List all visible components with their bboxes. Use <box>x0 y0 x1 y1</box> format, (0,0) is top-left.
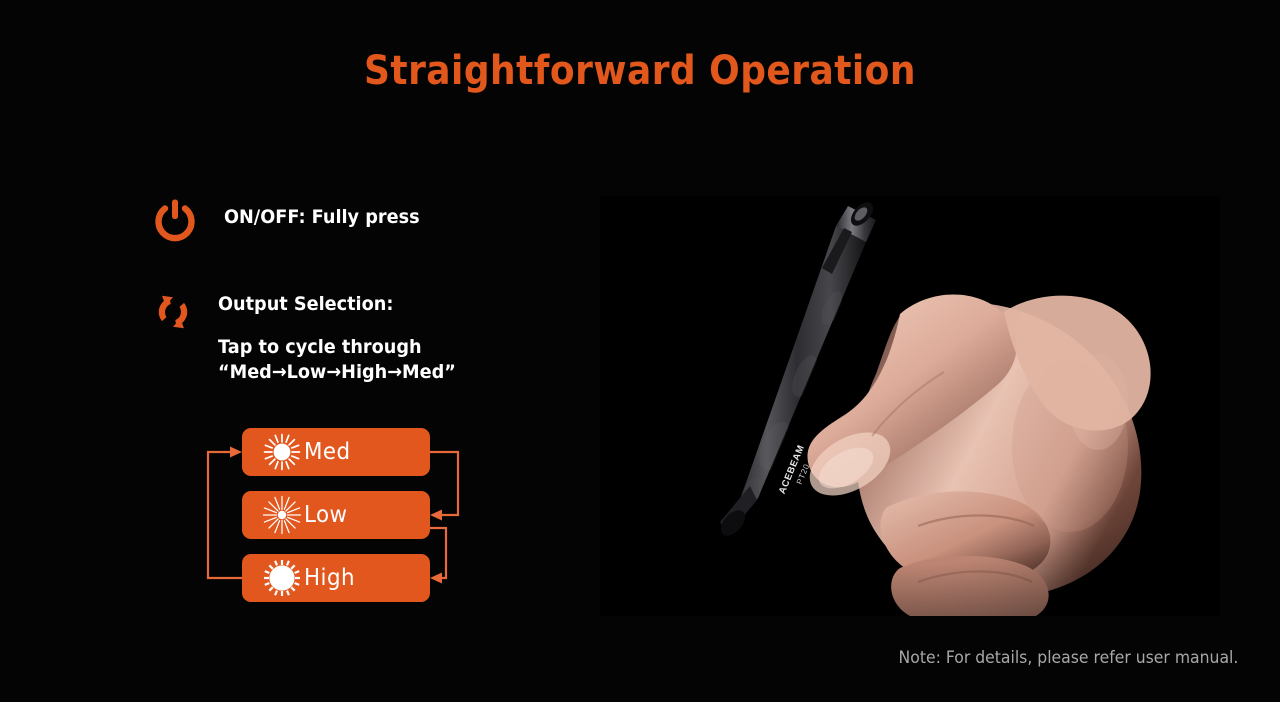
cycle-hint-line-1: Tap to cycle through <box>218 335 456 360</box>
connector-low-to-high <box>430 528 446 578</box>
mode-flow-diagram: Med <box>196 418 496 623</box>
connector-med-to-low <box>430 452 458 515</box>
instruction-row-onoff: ON/OFF: Fully press <box>152 196 434 244</box>
mode-button-med[interactable]: Med <box>242 428 430 476</box>
cycle-arrows-icon <box>150 288 196 336</box>
mode-label-high: High <box>304 565 355 591</box>
cycle-hint-line-2: “Med→Low→High→Med” <box>218 360 456 385</box>
mode-button-low[interactable]: Low <box>242 491 430 539</box>
arrowhead-into-high <box>430 573 442 584</box>
instruction-text-onoff: ON/OFF: Fully press <box>224 196 434 230</box>
arrowhead-into-med <box>230 447 242 458</box>
photo-illustration: ACEBEAM PT20 <box>600 196 1220 616</box>
onoff-label: ON/OFF: Fully press <box>224 205 420 230</box>
output-selection-heading: Output Selection: <box>218 292 456 317</box>
footer-note: Note: For details, please refer user man… <box>898 648 1238 668</box>
slide-root: Straightforward Operation ON/OFF: Fully … <box>0 0 1280 702</box>
sun-medium-icon <box>262 432 302 472</box>
instruction-text-output-selection: Output Selection: Tap to cycle through “… <box>218 288 474 385</box>
mode-label-med: Med <box>304 439 351 465</box>
arrowhead-into-low <box>430 510 442 521</box>
power-icon <box>152 196 198 244</box>
instruction-row-output-selection: Output Selection: Tap to cycle through “… <box>150 288 474 385</box>
page-title: Straightforward Operation <box>64 48 1216 94</box>
product-photo-hand-holding-penlight: ACEBEAM PT20 <box>600 196 1220 616</box>
mode-label-low: Low <box>304 502 348 528</box>
mode-button-high[interactable]: High <box>242 554 430 602</box>
sun-high-icon <box>262 558 302 598</box>
connector-high-to-med <box>208 452 242 578</box>
sun-low-icon <box>262 495 302 535</box>
